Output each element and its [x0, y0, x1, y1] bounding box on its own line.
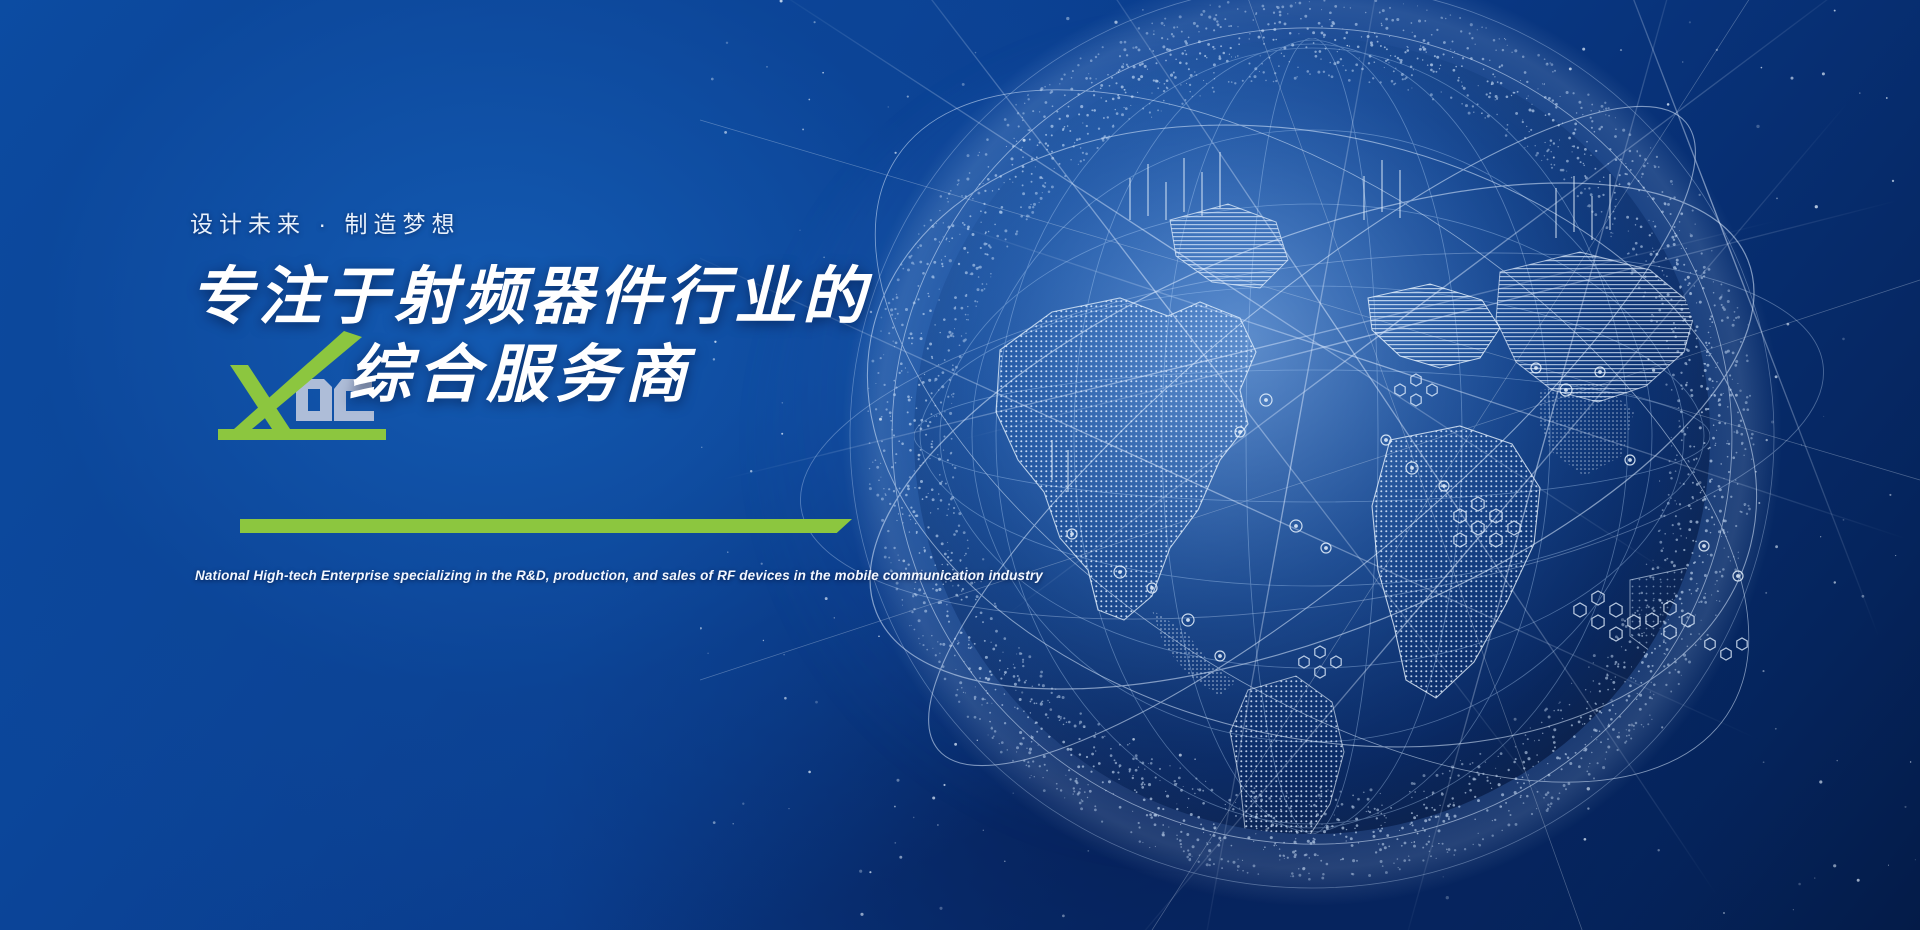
banner-copy: 设计未来 · 制造梦想 专注于射频器件行业的 — [190, 205, 1090, 445]
subtitle-english: National High-tech Enterprise specializi… — [195, 568, 1043, 583]
green-accent-bar — [240, 519, 852, 533]
headline-line-2-row: 综合服务商 — [190, 337, 1090, 445]
headline-line-1: 专注于射频器件行业的 — [190, 265, 1090, 329]
digital-globe-graphic — [700, 0, 1920, 930]
headline-line-2: 综合服务商 — [348, 343, 693, 407]
logo-baseline — [218, 429, 386, 440]
hero-banner: 设计未来 · 制造梦想 专注于射频器件行业的 — [0, 0, 1920, 930]
tagline: 设计未来 · 制造梦想 — [190, 205, 1090, 239]
